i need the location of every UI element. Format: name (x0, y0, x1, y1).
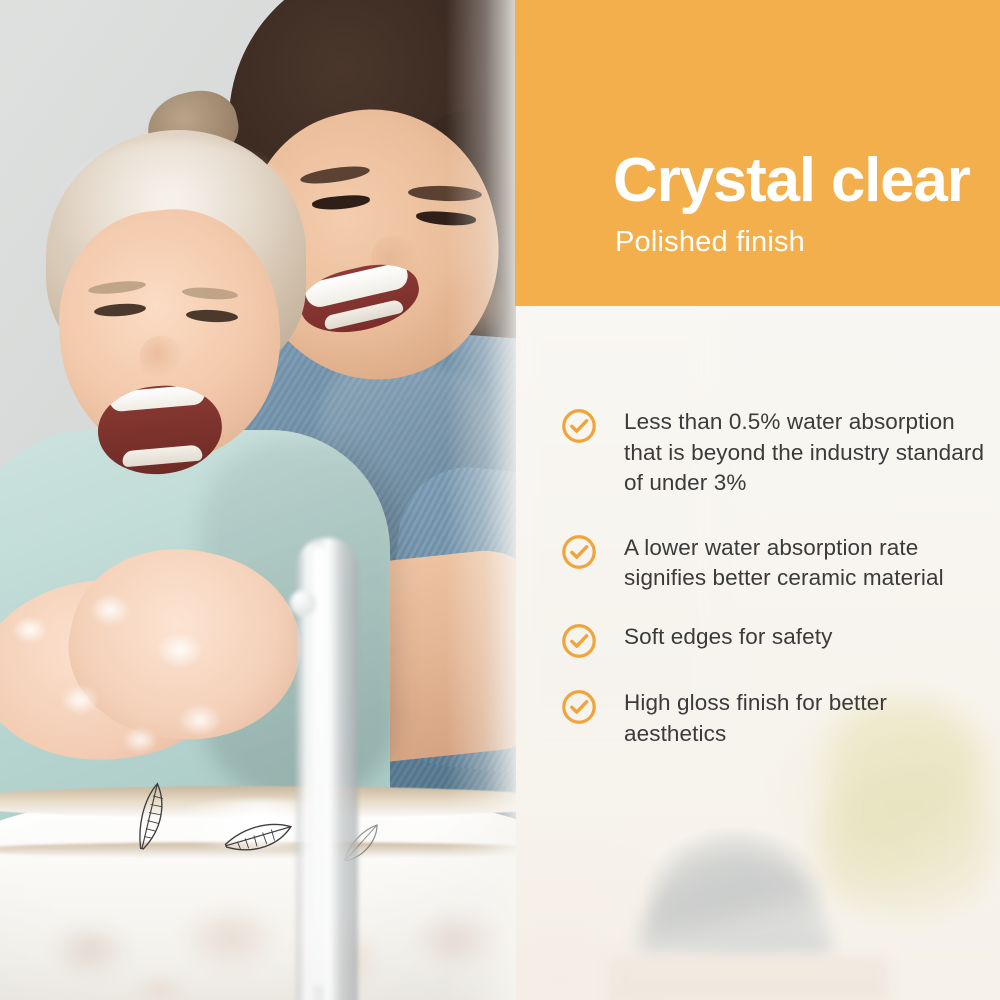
feature-text: A lower water absorption rate signifies … (624, 531, 990, 594)
check-circle-icon (560, 688, 598, 726)
feature-item: High gloss finish for better aesthetics (560, 686, 990, 749)
page-subtitle: Polished finish (615, 228, 805, 257)
child-nose (140, 336, 182, 380)
soap-foam (0, 570, 280, 770)
promo-banner: Crystal clear Polished finish Less than … (0, 0, 1000, 1000)
basin-floral-pattern (10, 880, 516, 1000)
feature-item: Less than 0.5% water absorption that is … (560, 405, 990, 499)
check-circle-icon (560, 622, 598, 660)
background-counter-blur (610, 955, 890, 1000)
check-circle-icon (560, 407, 598, 445)
faucet-specular-highlight (312, 546, 326, 986)
photo-content (0, 0, 516, 1000)
soapy-hands (0, 540, 310, 790)
background-basin-blur (640, 855, 830, 960)
lifestyle-photo (0, 0, 516, 1000)
feature-text: High gloss finish for better aesthetics (624, 686, 990, 749)
faucet-joint (290, 590, 316, 616)
feature-item: Soft edges for safety (560, 620, 990, 660)
feature-item: A lower water absorption rate signifies … (560, 531, 990, 594)
mother-cheek (430, 268, 510, 338)
check-circle-icon (560, 533, 598, 571)
feature-text: Soft edges for safety (624, 620, 832, 653)
child-teeth-lower (122, 444, 203, 467)
feature-text: Less than 0.5% water absorption that is … (624, 405, 990, 499)
header-panel: Crystal clear Polished finish (515, 0, 1000, 306)
page-title: Crystal clear (613, 150, 970, 212)
feature-list: Less than 0.5% water absorption that is … (560, 405, 990, 749)
